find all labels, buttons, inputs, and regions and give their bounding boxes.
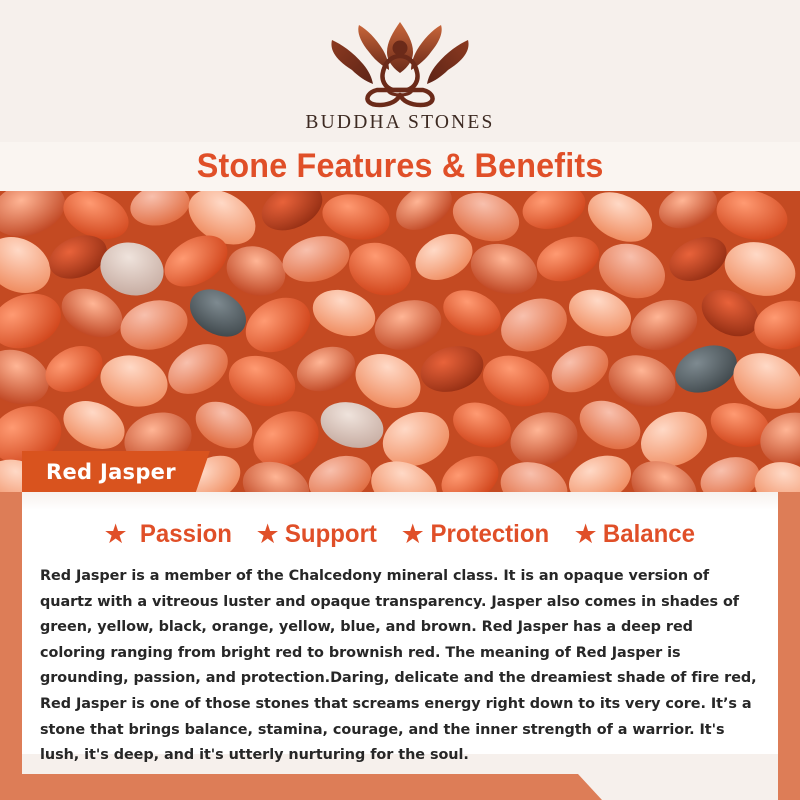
- title-banner: Stone Features & Benefits: [0, 142, 800, 191]
- stone-name-label: Red Jasper: [46, 460, 176, 484]
- star-icon: ★: [573, 521, 597, 548]
- benefits-row: ★ Passion ★ Support ★ Protection ★ Balan…: [40, 514, 760, 554]
- benefit-label: Support: [285, 520, 377, 549]
- infographic-page: BUDDHA STONES Stone Features & Benefits: [0, 0, 800, 800]
- benefit-item-passion: ★ Passion: [103, 520, 233, 549]
- benefit-item-balance: ★ Balance: [573, 520, 696, 549]
- brand-name: BUDDHA STONES: [305, 112, 494, 134]
- star-icon: ★: [401, 521, 425, 548]
- benefit-item-protection: ★ Protection: [401, 520, 552, 549]
- lotus-meditating-figure-icon: [325, 18, 475, 110]
- benefit-label: Passion: [140, 520, 232, 549]
- decorative-bottom-border: [0, 774, 800, 800]
- stone-photo: [0, 191, 800, 492]
- brand-header: BUDDHA STONES: [0, 0, 800, 142]
- star-icon: ★: [103, 521, 127, 548]
- stone-description: Red Jasper is a member of the Chalcedony…: [40, 564, 760, 769]
- content-panel: ★ Passion ★ Support ★ Protection ★ Balan…: [22, 492, 778, 754]
- benefit-item-support: ★ Support: [256, 520, 379, 549]
- benefit-label: Protection: [430, 520, 549, 549]
- benefit-label: Balance: [603, 520, 695, 549]
- stone-name-badge: Red Jasper: [22, 451, 210, 492]
- star-icon: ★: [256, 521, 280, 548]
- decorative-left-border: [0, 488, 22, 800]
- page-title: Stone Features & Benefits: [197, 147, 604, 186]
